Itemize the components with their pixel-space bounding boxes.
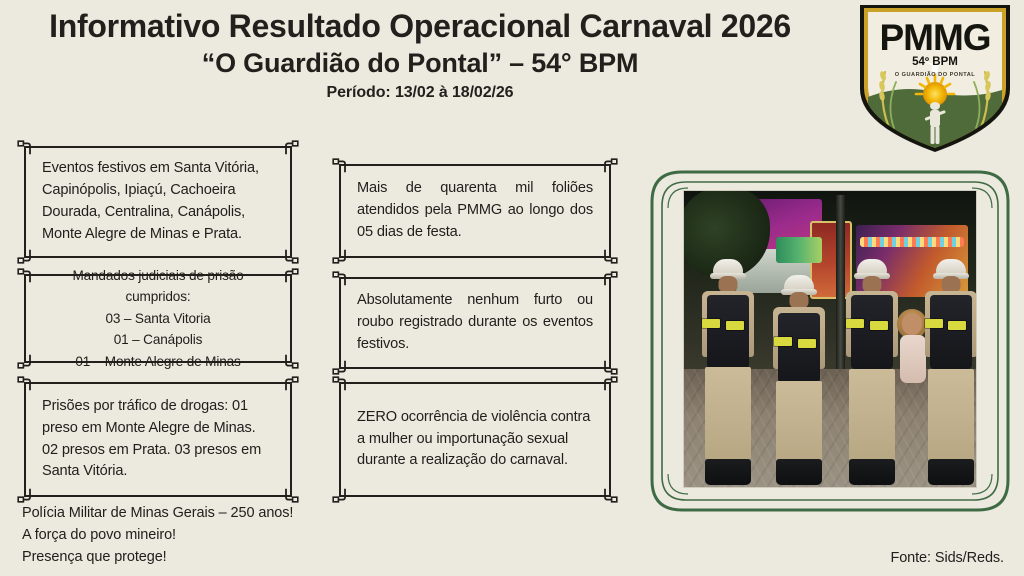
photo-helmet-icon — [713, 259, 743, 277]
pmmg-badge-logo: PMMG 54º BPM O GUARDIÃO DO PONTAL — [852, 2, 1018, 152]
card-violencia-text: ZERO ocorrência de violência contra a mu… — [357, 407, 593, 473]
card-furtos-text: Absolutamente nenhum furto ou roubo regi… — [357, 290, 593, 356]
photo-tactical-vest — [851, 295, 893, 369]
photo-stall-green — [776, 237, 822, 263]
badge-motto-text: O GUARDIÃO DO PONTAL — [895, 71, 976, 78]
photo-policiais-carnaval — [683, 190, 977, 488]
badge-unit-text: 54º BPM — [912, 56, 958, 68]
photo-officer-1 — [696, 257, 760, 487]
footer-line-1: Polícia Militar de Minas Gerais – 250 an… — [22, 502, 293, 524]
page-title: Informativo Resultado Operacional Carnav… — [0, 8, 840, 45]
photo-boots — [705, 459, 751, 485]
photo-helmet-icon — [936, 259, 966, 277]
poster-root: Informativo Resultado Operacional Carnav… — [0, 0, 1024, 576]
card-eventos-text: Eventos festivos em Santa Vitória, Capin… — [42, 158, 274, 246]
card-zero-violencia: ZERO ocorrência de violência contra a mu… — [339, 382, 611, 497]
photo-tactical-vest — [707, 295, 749, 369]
card-mandados-judiciais: Mandados judiciais de prisão cumpridos: … — [24, 274, 292, 363]
photo-child-head — [902, 313, 922, 335]
photo-tactical-vest — [778, 313, 820, 383]
photo-legs — [928, 369, 974, 461]
poster-header: Informativo Resultado Operacional Carnav… — [0, 8, 840, 104]
card-trafico-text: Prisões por tráfico de drogas: 01 preso … — [42, 396, 274, 484]
photo-vest-patch — [774, 337, 792, 346]
period-label: Período: 13/02 à 18/02/26 — [0, 83, 840, 104]
photo-vest-patch — [726, 321, 744, 330]
photo-vest-patch — [870, 321, 888, 330]
photo-tactical-vest — [930, 295, 972, 369]
card-eventos-festivos: Eventos festivos em Santa Vitória, Capin… — [24, 146, 292, 258]
photo-vest-patch — [925, 319, 943, 328]
photo-vest-patch — [798, 339, 816, 348]
photo-stall-lights — [860, 237, 964, 247]
card-folioes-atendidos: Mais de quarenta mil foliões atendidos p… — [339, 164, 611, 258]
footer-slogan: Polícia Militar de Minas Gerais – 250 an… — [22, 502, 293, 568]
photo-officer-4 — [920, 259, 977, 487]
card-nenhum-furto: Absolutamente nenhum furto ou roubo regi… — [339, 277, 611, 369]
photo-frame — [648, 168, 1012, 514]
photo-legs — [776, 381, 822, 465]
footer-line-2: A força do povo mineiro! — [22, 524, 293, 546]
photo-helmet-icon — [784, 275, 814, 293]
photo-legs — [705, 367, 751, 459]
page-subtitle: “O Guardião do Pontal” – 54° BPM — [0, 47, 840, 79]
photo-vest-patch — [846, 319, 864, 328]
badge-acronym-text: PMMG — [879, 17, 990, 58]
photo-vest-patch — [702, 319, 720, 328]
footer-line-3: Presença que protege! — [22, 546, 293, 568]
photo-boots — [776, 459, 822, 485]
source-label: Fonte: Sids/Reds. — [890, 550, 1004, 566]
photo-officer-2 — [768, 271, 830, 487]
photo-boots — [928, 459, 974, 485]
photo-helmet-icon — [857, 259, 887, 277]
photo-boots — [849, 459, 895, 485]
card-mandados-text: Mandados judiciais de prisão cumpridos: … — [42, 265, 274, 372]
photo-vest-patch — [948, 321, 966, 330]
photo-legs — [849, 369, 895, 461]
card-prisoes-trafico: Prisões por tráfico de drogas: 01 preso … — [24, 382, 292, 497]
card-folioes-text: Mais de quarenta mil foliões atendidos p… — [357, 178, 593, 244]
